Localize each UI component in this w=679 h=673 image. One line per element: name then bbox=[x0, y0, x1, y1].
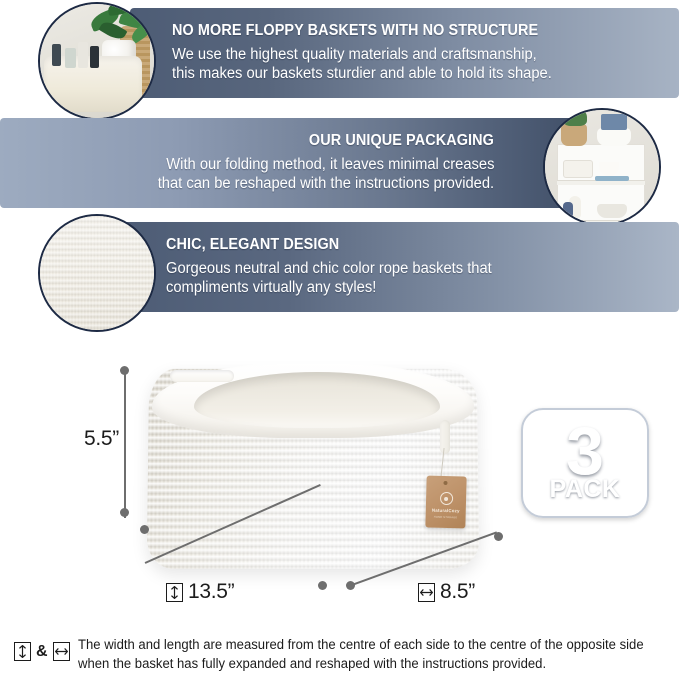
footnote-separator: & bbox=[36, 643, 48, 661]
feature-banner-1: NO MORE FLOPPY BASKETS WITH NO STRUCTURE… bbox=[130, 8, 679, 98]
width-dimension-value: 8.5” bbox=[440, 580, 475, 604]
bottle-prop bbox=[90, 46, 99, 68]
length-guide-dot-top bbox=[140, 525, 149, 534]
product-hangtag: NaturalCozy HOME STORAGE bbox=[426, 476, 466, 528]
measurement-footnote: & The width and length are measured from… bbox=[14, 636, 664, 673]
tray-prop bbox=[597, 204, 627, 218]
hangtag-card: NaturalCozy HOME STORAGE bbox=[425, 475, 466, 528]
bathroom-caddy-basket-photo bbox=[38, 2, 156, 120]
product-infographic-page: NO MORE FLOPPY BASKETS WITH NO STRUCTURE… bbox=[0, 0, 679, 673]
width-guide-dot-right bbox=[494, 532, 503, 541]
vertical-arrow-icon bbox=[14, 642, 31, 661]
pack-count-number: 3 bbox=[566, 422, 604, 480]
hangtag-brand-name: NaturalCozy bbox=[432, 508, 460, 514]
feature-1-body-line2: this makes our baskets sturdier and able… bbox=[172, 65, 552, 84]
brand-logo-icon bbox=[439, 492, 452, 505]
feature-3-headline: CHIC, ELEGANT DESIGN bbox=[166, 236, 339, 254]
feature-3-body-line1: Gorgeous neutral and chic color rope bas… bbox=[166, 260, 492, 279]
feature-banner-1-text: NO MORE FLOPPY BASKETS WITH NO STRUCTURE… bbox=[172, 8, 665, 98]
feature-3-body-line2: compliments virtually any styles! bbox=[166, 279, 376, 298]
width-dimension-label: 8.5” bbox=[418, 580, 475, 604]
basket-handle-cutout bbox=[170, 370, 234, 382]
feature-banner-3-text: CHIC, ELEGANT DESIGN Gorgeous neutral an… bbox=[166, 222, 665, 312]
vertical-arrow-icon bbox=[166, 583, 183, 602]
height-guide-dot-bottom bbox=[120, 508, 129, 517]
length-dimension-label: 13.5” bbox=[166, 580, 234, 604]
hangtag-tagline: HOME STORAGE bbox=[434, 516, 458, 520]
woven-planter-prop bbox=[561, 124, 587, 146]
height-dimension-label: 5.5” bbox=[84, 427, 119, 451]
hangtag-hole bbox=[443, 481, 447, 485]
feature-1-headline: NO MORE FLOPPY BASKETS WITH NO STRUCTURE bbox=[172, 22, 538, 40]
book-prop bbox=[601, 114, 627, 130]
footnote-icons: & bbox=[14, 636, 70, 661]
rope-texture-closeup-photo bbox=[38, 214, 156, 332]
horizontal-arrow-icon bbox=[53, 642, 70, 661]
shelf-with-baskets-photo bbox=[543, 108, 661, 226]
plant-prop bbox=[563, 108, 587, 126]
footnote-text: The width and length are measured from t… bbox=[78, 636, 644, 673]
pack-count-word: PACK bbox=[550, 477, 621, 502]
small-basket-prop bbox=[563, 160, 593, 178]
white-basket-prop bbox=[597, 128, 631, 146]
feature-banner-2-text: OUR UNIQUE PACKAGING With our folding me… bbox=[14, 118, 494, 208]
feature-1-body-line1: We use the highest quality materials and… bbox=[172, 46, 537, 65]
length-dimension-value: 13.5” bbox=[188, 580, 234, 604]
basket-side-handle bbox=[440, 420, 450, 454]
length-guide-dot-bottom bbox=[318, 581, 327, 590]
rope-weave-texture bbox=[40, 216, 154, 330]
feature-2-headline: OUR UNIQUE PACKAGING bbox=[309, 132, 494, 150]
feature-banner-3: CHIC, ELEGANT DESIGN Gorgeous neutral an… bbox=[120, 222, 679, 312]
bottle-prop bbox=[52, 44, 61, 66]
height-dimension-value: 5.5” bbox=[84, 427, 119, 451]
height-guide-line bbox=[124, 371, 126, 518]
footnote-line-1: The width and length are measured from t… bbox=[78, 636, 644, 655]
horizontal-arrow-icon bbox=[418, 583, 435, 602]
feature-2-body-line2: that can be reshaped with the instructio… bbox=[158, 175, 494, 194]
bottle-prop bbox=[65, 48, 76, 68]
footnote-line-2: when the basket has fully expanded and r… bbox=[78, 655, 644, 673]
feature-banner-2: OUR UNIQUE PACKAGING With our folding me… bbox=[0, 118, 590, 208]
bottle-prop bbox=[78, 42, 88, 68]
bottle-prop bbox=[563, 202, 573, 218]
folded-towel-prop bbox=[595, 176, 629, 181]
pack-count-badge: 3 PACK bbox=[521, 408, 649, 518]
feature-2-body-line1: With our folding method, it leaves minim… bbox=[166, 156, 494, 175]
